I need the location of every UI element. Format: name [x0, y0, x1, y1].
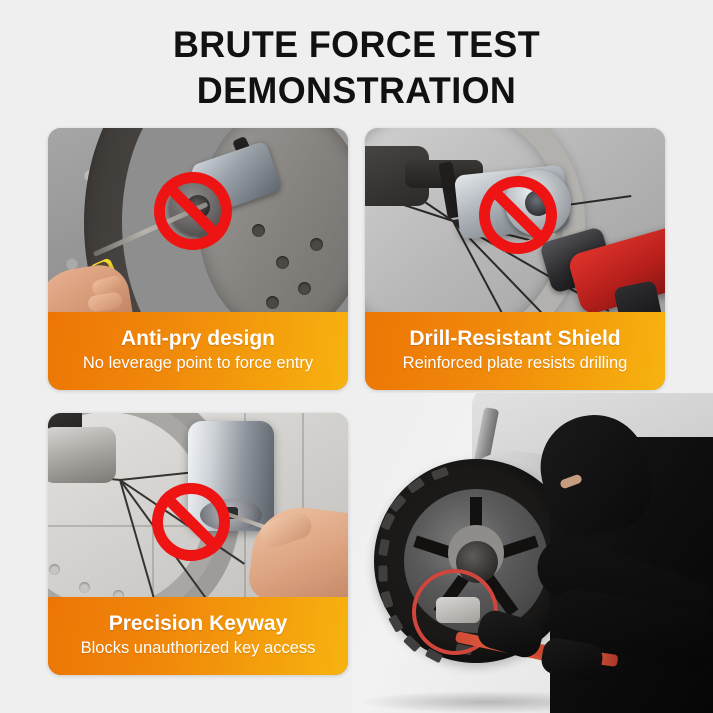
- feature-photo-drill-resistant: [365, 128, 665, 312]
- feature-subtitle-precision-keyway: Blocks unauthorized key access: [81, 639, 316, 659]
- feature-card-anti-pry[interactable]: Anti-pry design No leverage point to for…: [48, 128, 348, 390]
- feature-title-precision-keyway: Precision Keyway: [109, 612, 288, 636]
- feature-caption-anti-pry: Anti-pry design No leverage point to for…: [48, 312, 348, 390]
- feature-card-precision-keyway[interactable]: Precision Keyway Blocks unauthorized key…: [48, 413, 348, 675]
- feature-subtitle-drill-resistant: Reinforced plate resists drilling: [403, 354, 628, 374]
- prohibition-slash-precision-keyway: [152, 483, 230, 561]
- feature-card-drill-resistant[interactable]: Drill-Resistant Shield Reinforced plate …: [365, 128, 665, 390]
- feature-caption-precision-keyway: Precision Keyway Blocks unauthorized key…: [48, 597, 348, 675]
- feature-photo-precision-keyway: [48, 413, 348, 597]
- prohibition-slash-drill-resistant: [479, 176, 557, 254]
- disc-lock-body: [436, 597, 480, 623]
- feature-subtitle-anti-pry: No leverage point to force entry: [83, 354, 313, 374]
- feature-caption-drill-resistant: Drill-Resistant Shield Reinforced plate …: [365, 312, 665, 390]
- hero-photo-thief-cutting-lock: [352, 393, 713, 713]
- page-title: BRUTE FORCE TEST DEMONSTRATION: [0, 22, 713, 114]
- feature-title-anti-pry: Anti-pry design: [121, 327, 275, 351]
- axle-nut: [48, 427, 116, 483]
- feature-title-drill-resistant: Drill-Resistant Shield: [409, 327, 620, 351]
- page-title-line-2: DEMONSTRATION: [11, 68, 703, 114]
- feature-photo-anti-pry: [48, 128, 348, 312]
- prohibition-slash-anti-pry: [154, 172, 232, 250]
- product-feature-poster: BRUTE FORCE TEST DEMONSTRATION: [0, 0, 713, 713]
- page-title-line-1: BRUTE FORCE TEST: [11, 22, 703, 68]
